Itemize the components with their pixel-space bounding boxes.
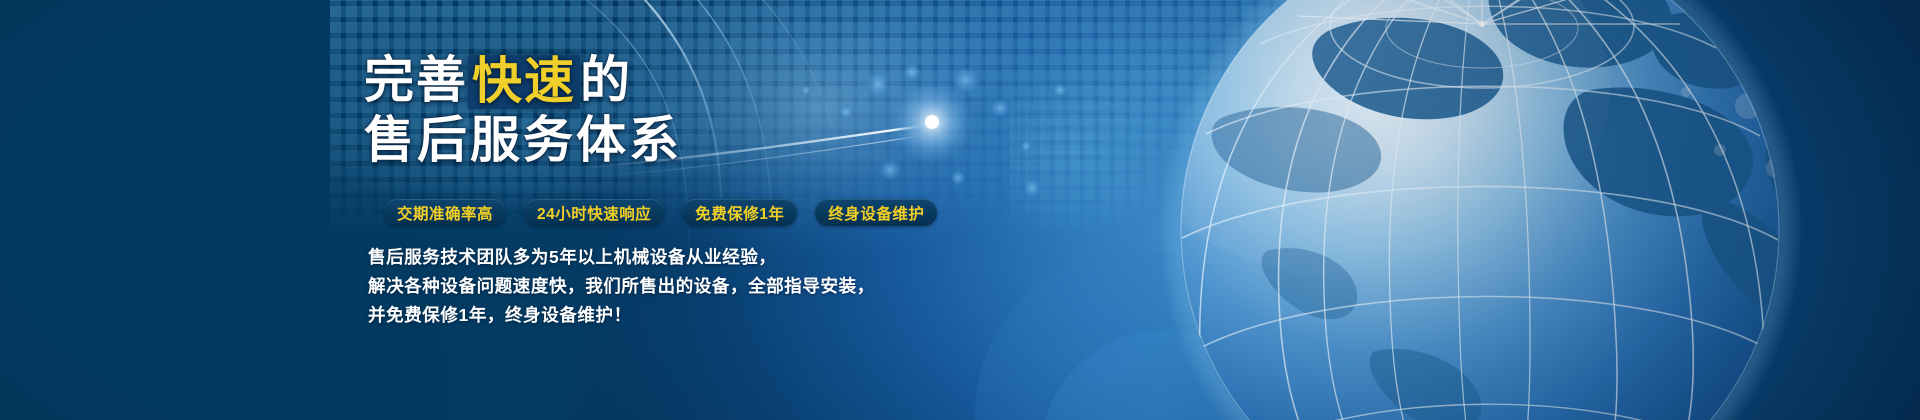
headline: 完善快速的 售后服务体系	[364, 55, 682, 165]
feature-badge-delivery-accuracy[interactable]: 交期准确率高	[384, 199, 506, 226]
description-line: 售后服务技术团队多为5年以上机械设备从业经验，	[368, 243, 875, 272]
feature-badge-24h-response[interactable]: 24小时快速响应	[524, 199, 664, 226]
feature-badge-free-warranty[interactable]: 免费保修1年	[682, 199, 797, 226]
headline-line-1: 完善快速的	[364, 55, 682, 109]
feature-badge-list: 交期准确率高 24小时快速响应 免费保修1年 终身设备维护	[384, 199, 937, 226]
description-paragraph: 售后服务技术团队多为5年以上机械设备从业经验， 解决各种设备问题速度快，我们所售…	[368, 243, 875, 330]
headline-line-2: 售后服务体系	[364, 115, 682, 165]
service-banner: 完善快速的 售后服务体系 交期准确率高 24小时快速响应 免费保修1年 终身设备…	[0, 0, 1920, 420]
banner-content: 完善快速的 售后服务体系 交期准确率高 24小时快速响应 免费保修1年 终身设备…	[0, 0, 1000, 420]
headline-text-highlight: 快速	[468, 55, 580, 109]
headline-subtitle: 售后服务体系	[364, 115, 682, 165]
headline-text-white: 的	[580, 55, 632, 105]
description-line: 并免费保修1年，终身设备维护！	[368, 301, 875, 330]
headline-text-white: 完善	[364, 55, 468, 105]
feature-badge-lifetime-service[interactable]: 终身设备维护	[815, 199, 937, 226]
description-line: 解决各种设备问题速度快，我们所售出的设备，全部指导安装，	[368, 272, 875, 301]
